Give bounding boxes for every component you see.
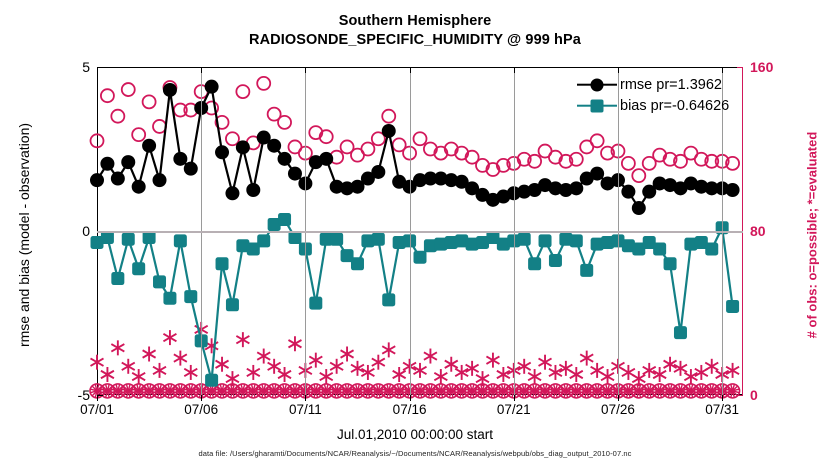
x-axis-tick-label: 07/11 <box>289 402 322 417</box>
circle-marker <box>215 145 229 159</box>
chart-legend: rmse pr=1.3962 bias pr=-0.64626 <box>577 74 743 116</box>
y-axis-right-tick-label: 80 <box>750 223 766 239</box>
circle-marker <box>371 165 385 179</box>
circle-marker <box>267 139 281 153</box>
square-marker <box>143 231 156 244</box>
open-circle-marker <box>632 169 645 182</box>
x-axis-tick <box>201 67 202 73</box>
square-marker <box>570 234 583 247</box>
circle-marker <box>319 152 333 166</box>
circle-marker <box>590 167 604 181</box>
square-marker <box>580 264 593 277</box>
x-axis-tick <box>410 67 411 73</box>
circle-marker <box>205 80 219 94</box>
square-marker <box>257 234 270 247</box>
x-axis-tick <box>722 67 723 73</box>
circle-marker <box>569 181 583 195</box>
y-axis-left-label: rmse and bias (model - observation) <box>16 123 32 347</box>
circle-marker <box>173 152 187 166</box>
open-circle-marker <box>91 134 104 147</box>
circle-marker <box>184 162 198 176</box>
y-axis-right-label: # of obs: o=possible; *=evaluated <box>805 132 820 339</box>
x-axis-tick <box>722 395 723 401</box>
square-marker <box>122 233 135 246</box>
open-circle-marker <box>153 120 166 133</box>
circle-marker <box>132 180 146 194</box>
y-axis-right-tick-label: 0 <box>750 387 758 403</box>
open-circle-marker <box>622 157 635 170</box>
circle-marker <box>288 167 302 181</box>
circle-marker <box>121 155 135 169</box>
y-axis-right-tick <box>737 67 743 68</box>
square-marker <box>278 213 291 226</box>
square-marker <box>205 374 218 387</box>
circle-marker <box>163 83 177 97</box>
square-marker <box>216 257 229 270</box>
square-marker <box>382 293 395 306</box>
circle-marker <box>90 173 104 187</box>
open-circle-marker <box>122 83 135 96</box>
x-axis-tick <box>618 67 619 73</box>
open-circle-marker <box>101 89 114 102</box>
open-circle-marker <box>257 77 270 90</box>
open-circle-marker <box>143 95 156 108</box>
open-circle-marker <box>278 116 291 129</box>
square-marker <box>288 231 301 244</box>
x-axis-tick <box>514 395 515 401</box>
square-marker <box>163 292 176 305</box>
circle-marker-icon <box>577 77 617 93</box>
square-marker <box>132 262 145 275</box>
circle-marker <box>236 140 250 154</box>
circle-marker <box>153 173 167 187</box>
y-axis-left-tick-label: 5 <box>82 59 90 75</box>
square-marker <box>518 233 531 246</box>
circle-marker <box>726 183 740 197</box>
open-circle-marker <box>226 132 239 145</box>
square-marker <box>174 234 187 247</box>
legend-label-rmse: rmse pr=1.3962 <box>617 77 722 93</box>
circle-marker <box>621 185 635 199</box>
circle-marker <box>278 152 292 166</box>
circle-marker <box>142 139 156 153</box>
open-circle-marker <box>361 143 374 156</box>
title-line-2: RADIOSONDE_SPECIFIC_HUMIDITY @ 999 hPa <box>0 31 830 50</box>
square-marker <box>549 254 562 267</box>
x-axis-tick <box>410 395 411 401</box>
square-marker <box>309 297 322 310</box>
chart-title: Southern Hemisphere RADIOSONDE_SPECIFIC_… <box>0 12 830 50</box>
circle-marker <box>632 201 646 215</box>
square-marker <box>414 251 427 264</box>
square-marker-icon <box>577 98 617 114</box>
open-circle-marker <box>236 85 249 98</box>
y-axis-left-tick <box>97 67 103 68</box>
zero-reference-line <box>97 231 743 233</box>
square-marker <box>528 257 541 270</box>
open-circle-marker <box>591 134 604 147</box>
open-circle-marker <box>132 128 145 141</box>
square-marker <box>726 300 739 313</box>
legend-item-bias: bias pr=-0.64626 <box>577 95 743 116</box>
data-file-footer: data file: /Users/gharamti/Documents/NCA… <box>0 449 830 458</box>
x-axis-tick <box>305 67 306 73</box>
open-circle-marker <box>111 110 124 123</box>
y-axis-right-tick-label: 160 <box>750 59 773 75</box>
circle-marker <box>100 157 114 171</box>
square-marker <box>539 234 552 247</box>
square-marker <box>351 257 364 270</box>
x-axis-tick-label: 07/21 <box>497 402 531 417</box>
circle-marker <box>246 183 260 197</box>
x-axis-tick <box>514 67 515 73</box>
open-circle-marker <box>382 110 395 123</box>
y-axis-left-tick-label: -5 <box>78 387 90 403</box>
y-axis-left-tick <box>97 395 103 396</box>
square-marker <box>153 275 166 288</box>
x-axis-tick-label: 07/06 <box>184 402 218 417</box>
chart-page: Southern Hemisphere RADIOSONDE_SPECIFIC_… <box>0 0 830 470</box>
open-circle-marker <box>414 132 427 145</box>
x-axis-tick-label: 07/01 <box>80 402 114 417</box>
title-line-1: Southern Hemisphere <box>0 12 830 31</box>
x-axis-tick-label: 07/26 <box>601 402 635 417</box>
square-marker <box>372 233 385 246</box>
square-marker <box>101 231 114 244</box>
legend-item-rmse: rmse pr=1.3962 <box>577 74 743 95</box>
square-marker <box>705 243 718 256</box>
square-marker <box>664 257 677 270</box>
x-axis-tick <box>618 395 619 401</box>
square-marker <box>674 326 687 339</box>
plot-area: 07/0107/0607/1107/1607/2107/2607/3150-51… <box>97 67 743 395</box>
square-marker <box>184 290 197 303</box>
y-axis-right-tick <box>737 395 743 396</box>
x-axis-tick-label: 07/16 <box>393 402 427 417</box>
x-axis-tick <box>305 395 306 401</box>
circle-marker <box>225 186 239 200</box>
legend-label-bias: bias pr=-0.64626 <box>617 98 729 114</box>
square-marker <box>226 298 239 311</box>
y-axis-left-tick-label: 0 <box>82 223 90 239</box>
x-axis-tick-label: 07/31 <box>705 402 739 417</box>
circle-marker <box>382 124 396 138</box>
square-marker <box>111 272 124 285</box>
x-axis-label: Jul.01,2010 00:00:00 start <box>0 427 830 442</box>
circle-marker <box>111 172 125 186</box>
square-marker <box>653 243 666 256</box>
x-axis-tick <box>201 395 202 401</box>
square-marker <box>330 233 343 246</box>
